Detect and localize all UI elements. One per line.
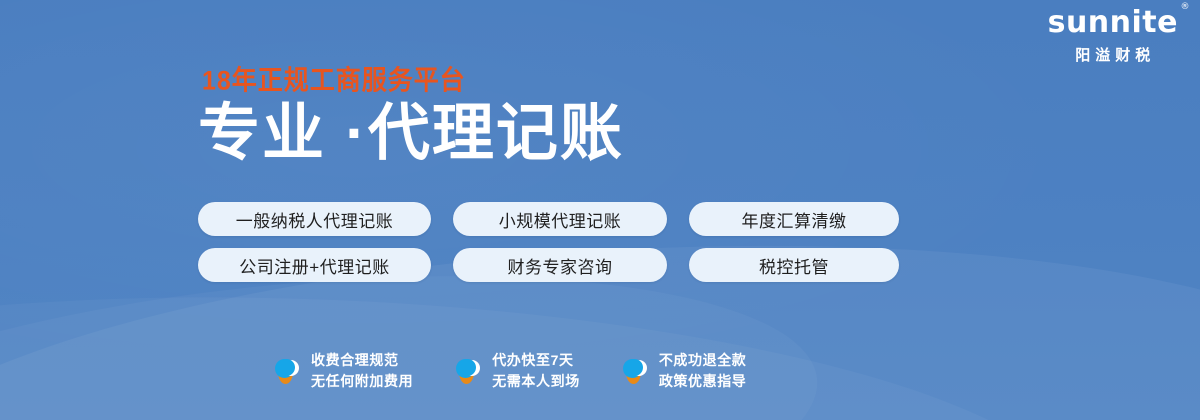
moon-drop-icon [622,356,648,386]
crescent-cut-shape [626,359,643,376]
feature-strip: 收费合理规范 无任何附加费用 代办快至7天 无需本人到场 [274,350,746,392]
registered-trademark-icon: ® [1181,3,1191,12]
moon-drop-icon [274,356,300,386]
crescent-cut-shape [278,359,295,376]
service-pill[interactable]: 税控托管 [689,248,899,282]
brand-logo[interactable]: sunnite ® 阳溢财税 [1048,8,1178,63]
service-pill[interactable]: 公司注册+代理记账 [198,248,431,282]
logo-wordmark: sunnite ® [1048,8,1178,38]
feature-line-1: 收费合理规范 [311,350,413,371]
feature-line-2: 政策优惠指导 [659,371,747,392]
service-pill-grid: 一般纳税人代理记账 小规模代理记账 年度汇算清缴 公司注册+代理记账 财务专家咨… [198,202,899,282]
feature-text: 代办快至7天 无需本人到场 [492,350,580,392]
service-pill[interactable]: 财务专家咨询 [453,248,667,282]
feature-line-1: 不成功退全款 [659,350,747,371]
logo-wordmark-text: sunnite [1048,5,1178,40]
feature-line-1: 代办快至7天 [492,350,580,371]
feature-line-2: 无需本人到场 [492,371,580,392]
feature-item: 收费合理规范 无任何附加费用 [274,350,413,392]
service-pill[interactable]: 小规模代理记账 [453,202,667,236]
feature-line-2: 无任何附加费用 [311,371,413,392]
feature-text: 不成功退全款 政策优惠指导 [659,350,747,392]
hero-headline: 专业 ·代理记账 [198,101,624,166]
moon-drop-icon [455,356,481,386]
feature-item: 代办快至7天 无需本人到场 [455,350,580,392]
service-pill[interactable]: 一般纳税人代理记账 [198,202,431,236]
hero-eyebrow: 18年正规工商服务平台 [202,68,624,95]
promo-banner: sunnite ® 阳溢财税 18年正规工商服务平台 专业 ·代理记账 一般纳税… [0,0,1200,420]
service-pill[interactable]: 年度汇算清缴 [689,202,899,236]
feature-item: 不成功退全款 政策优惠指导 [622,350,747,392]
hero-copy: 18年正规工商服务平台 专业 ·代理记账 [198,68,624,166]
feature-text: 收费合理规范 无任何附加费用 [311,350,413,392]
logo-chinese-name: 阳溢财税 [1048,48,1178,63]
